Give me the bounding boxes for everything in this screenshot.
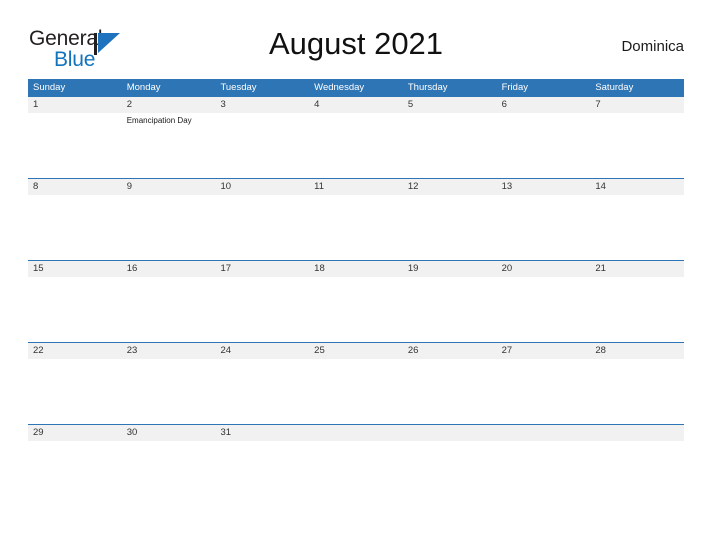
day-cell[interactable] (28, 195, 122, 260)
day-cell (403, 441, 497, 447)
day-cell[interactable] (590, 359, 684, 424)
day-cell[interactable] (590, 113, 684, 178)
day-cell[interactable] (122, 359, 216, 424)
day-cell[interactable] (309, 195, 403, 260)
date-cell[interactable]: 20 (497, 261, 591, 277)
page-header: General Blue August 2021 Dominica (28, 26, 684, 72)
day-cell[interactable] (28, 277, 122, 342)
day-cell[interactable] (28, 113, 122, 178)
calendar-page: General Blue August 2021 Dominica Sunday… (0, 0, 712, 550)
weekday-header-thursday: Thursday (403, 79, 497, 96)
week-date-band: 1 2 3 4 5 6 7 (28, 97, 684, 113)
calendar-grid: Sunday Monday Tuesday Wednesday Thursday… (28, 79, 684, 447)
week-date-band: 29 30 31 (28, 425, 684, 441)
date-cell[interactable]: 26 (403, 343, 497, 359)
date-cell[interactable]: 9 (122, 179, 216, 195)
weekday-header-friday: Friday (497, 79, 591, 96)
date-cell[interactable]: 1 (28, 97, 122, 113)
date-cell[interactable]: 2 (122, 97, 216, 113)
date-cell[interactable]: 14 (590, 179, 684, 195)
date-cell[interactable]: 19 (403, 261, 497, 277)
date-cell[interactable]: 30 (122, 425, 216, 441)
date-cell[interactable]: 7 (590, 97, 684, 113)
date-cell-empty (497, 425, 591, 441)
day-cell[interactable] (215, 113, 309, 178)
day-cell[interactable] (28, 359, 122, 424)
date-cell[interactable]: 13 (497, 179, 591, 195)
weekday-header-wednesday: Wednesday (309, 79, 403, 96)
day-cell (309, 441, 403, 447)
week-event-band (28, 359, 684, 424)
date-cell[interactable]: 5 (403, 97, 497, 113)
day-cell[interactable] (215, 441, 309, 447)
week-row: 8 9 10 11 12 13 14 (28, 178, 684, 260)
weekday-header-sunday: Sunday (28, 79, 122, 96)
week-row: 22 23 24 25 26 27 28 (28, 342, 684, 424)
day-cell[interactable] (309, 359, 403, 424)
day-cell[interactable] (309, 113, 403, 178)
date-cell[interactable]: 24 (215, 343, 309, 359)
day-cell[interactable] (590, 277, 684, 342)
day-cell[interactable] (497, 277, 591, 342)
date-cell[interactable]: 25 (309, 343, 403, 359)
date-cell[interactable]: 28 (590, 343, 684, 359)
week-row: 1 2 3 4 5 6 7 Emancipation Day (28, 96, 684, 178)
date-cell[interactable]: 15 (28, 261, 122, 277)
weekday-header-saturday: Saturday (590, 79, 684, 96)
date-cell[interactable]: 3 (215, 97, 309, 113)
event-label: Emancipation Day (127, 115, 212, 126)
day-cell[interactable] (215, 359, 309, 424)
weekday-header-row: Sunday Monday Tuesday Wednesday Thursday… (28, 79, 684, 96)
week-event-band (28, 195, 684, 260)
date-cell[interactable]: 16 (122, 261, 216, 277)
day-cell[interactable] (590, 195, 684, 260)
date-cell[interactable]: 12 (403, 179, 497, 195)
day-cell (590, 441, 684, 447)
date-cell[interactable]: 18 (309, 261, 403, 277)
week-row: 15 16 17 18 19 20 21 (28, 260, 684, 342)
region-label: Dominica (621, 38, 684, 55)
week-event-band (28, 441, 684, 447)
week-date-band: 22 23 24 25 26 27 28 (28, 343, 684, 359)
date-cell[interactable]: 10 (215, 179, 309, 195)
day-cell[interactable] (215, 195, 309, 260)
date-cell[interactable]: 21 (590, 261, 684, 277)
day-cell[interactable]: Emancipation Day (122, 113, 216, 178)
day-cell[interactable] (497, 195, 591, 260)
date-cell[interactable]: 8 (28, 179, 122, 195)
date-cell-empty (403, 425, 497, 441)
week-event-band: Emancipation Day (28, 113, 684, 178)
week-date-band: 8 9 10 11 12 13 14 (28, 179, 684, 195)
week-date-band: 15 16 17 18 19 20 21 (28, 261, 684, 277)
week-row: 29 30 31 (28, 424, 684, 447)
day-cell[interactable] (122, 277, 216, 342)
day-cell[interactable] (403, 277, 497, 342)
day-cell[interactable] (497, 359, 591, 424)
day-cell[interactable] (122, 195, 216, 260)
date-cell[interactable]: 31 (215, 425, 309, 441)
date-cell[interactable]: 11 (309, 179, 403, 195)
date-cell[interactable]: 4 (309, 97, 403, 113)
weekday-header-tuesday: Tuesday (215, 79, 309, 96)
date-cell[interactable]: 23 (122, 343, 216, 359)
week-event-band (28, 277, 684, 342)
date-cell-empty (309, 425, 403, 441)
day-cell[interactable] (215, 277, 309, 342)
date-cell[interactable]: 6 (497, 97, 591, 113)
day-cell[interactable] (403, 195, 497, 260)
date-cell[interactable]: 27 (497, 343, 591, 359)
date-cell[interactable]: 22 (28, 343, 122, 359)
date-cell[interactable]: 29 (28, 425, 122, 441)
day-cell[interactable] (309, 277, 403, 342)
day-cell[interactable] (28, 441, 122, 447)
date-cell-empty (590, 425, 684, 441)
weekday-header-monday: Monday (122, 79, 216, 96)
day-cell (497, 441, 591, 447)
day-cell[interactable] (122, 441, 216, 447)
day-cell[interactable] (403, 359, 497, 424)
day-cell[interactable] (497, 113, 591, 178)
page-title: August 2021 (28, 26, 684, 62)
day-cell[interactable] (403, 113, 497, 178)
date-cell[interactable]: 17 (215, 261, 309, 277)
